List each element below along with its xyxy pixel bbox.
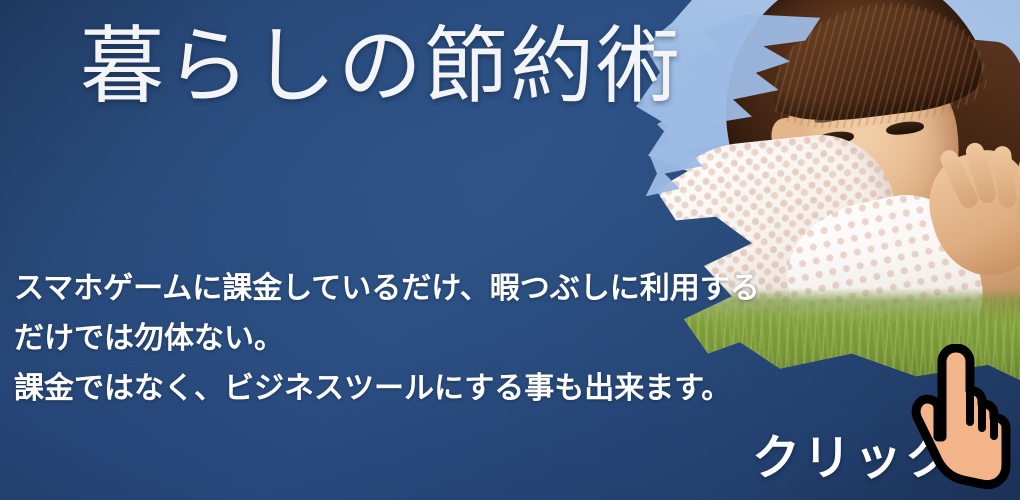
pointing-hand-cursor-icon[interactable] [908, 344, 1012, 494]
promo-banner[interactable]: 暮らしの節約術 スマホゲームに課金しているだけ、暇つぶしに利用する だけでは勿体… [0, 0, 1020, 500]
body-copy-line: 課金ではなく、ビジネスツールにする事も出来ます。 [14, 364, 744, 414]
body-copy: スマホゲームに課金しているだけ、暇つぶしに利用する だけでは勿体ない。 課金では… [14, 264, 744, 414]
page-title: 暮らしの節約術 [80, 18, 682, 117]
body-copy-line: スマホゲームに課金しているだけ、暇つぶしに利用する [14, 264, 744, 314]
body-copy-line: だけでは勿体ない。 [14, 314, 744, 364]
